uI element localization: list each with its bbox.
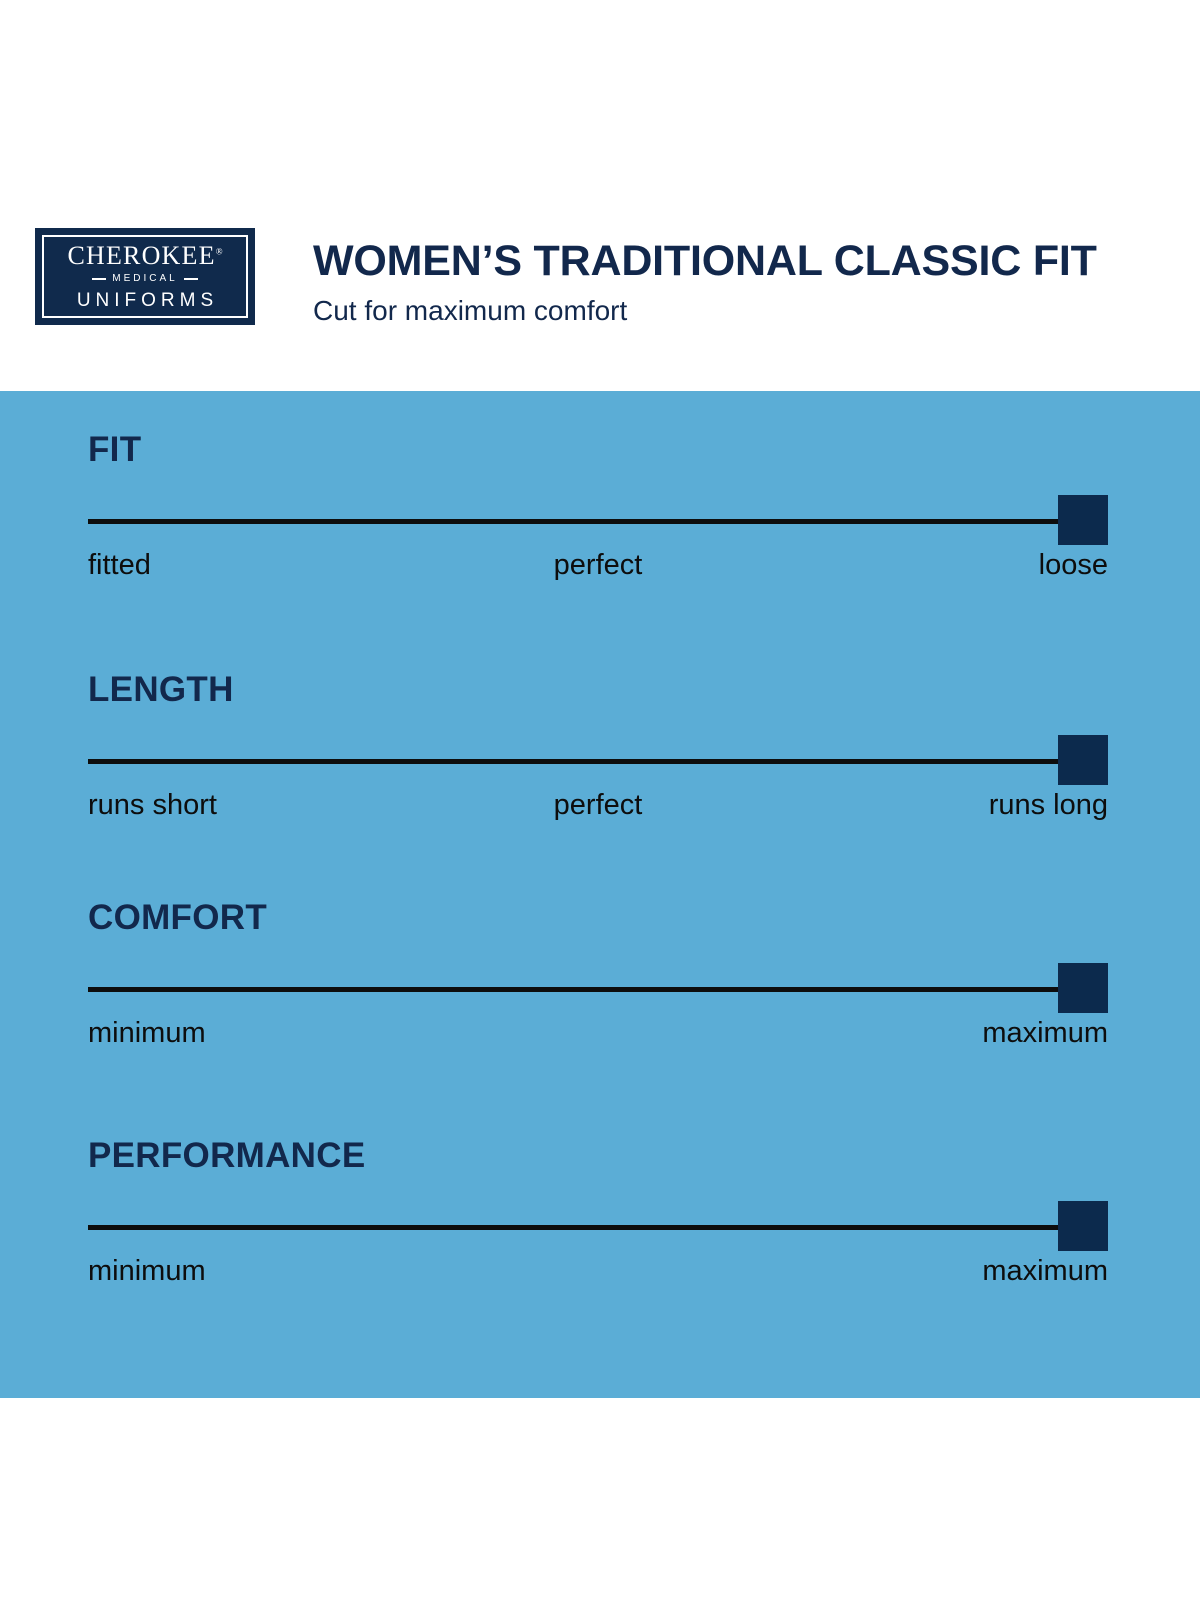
- logo-brand-name: CHEROKEE®: [67, 243, 222, 269]
- logo-medical-row: MEDICAL: [92, 274, 197, 284]
- scale-labels-comfort: minimum maximum: [88, 1019, 1108, 1059]
- scale-line-length: [88, 759, 1058, 764]
- scale-track-length[interactable]: [88, 735, 1108, 787]
- scale-label-length-left: runs short: [88, 791, 217, 820]
- scale-label-length-middle: perfect: [554, 791, 643, 820]
- scale-marker-length[interactable]: [1058, 735, 1108, 785]
- scale-label-fit-right: loose: [1039, 551, 1108, 580]
- cherokee-medical-uniforms-logo: CHEROKEE® MEDICAL UNIFORMS: [35, 228, 255, 325]
- logo-brand-text: CHEROKEE: [67, 241, 215, 270]
- scale-marker-performance[interactable]: [1058, 1201, 1108, 1251]
- scale-label-length-right: runs long: [989, 791, 1108, 820]
- fit-guide-page: CHEROKEE® MEDICAL UNIFORMS WOMEN’S TRADI…: [0, 0, 1200, 1600]
- scale-labels-performance: minimum maximum: [88, 1257, 1108, 1297]
- scale-label-fit-middle: perfect: [554, 551, 643, 580]
- scale-title-performance: PERFORMANCE: [88, 1138, 1108, 1173]
- registered-trademark-icon: ®: [216, 246, 223, 256]
- logo-medical-text: MEDICAL: [112, 274, 177, 284]
- scale-label-comfort-right: maximum: [982, 1019, 1108, 1048]
- scale-labels-fit: fitted perfect loose: [88, 551, 1108, 591]
- scale-marker-comfort[interactable]: [1058, 963, 1108, 1013]
- scale-row-fit: FIT fitted perfect loose: [88, 432, 1108, 591]
- page-title: WOMEN’S TRADITIONAL CLASSIC FIT: [313, 240, 1097, 283]
- logo-dash-left-icon: [92, 278, 106, 280]
- scale-track-comfort[interactable]: [88, 963, 1108, 1015]
- scale-label-performance-right: maximum: [982, 1257, 1108, 1286]
- scale-title-length: LENGTH: [88, 672, 1108, 707]
- scale-row-length: LENGTH runs short perfect runs long: [88, 672, 1108, 831]
- scale-title-fit: FIT: [88, 432, 1108, 467]
- scale-label-fit-left: fitted: [88, 551, 151, 580]
- scale-row-comfort: COMFORT minimum maximum: [88, 900, 1108, 1059]
- scale-track-fit[interactable]: [88, 495, 1108, 547]
- page-subtitle: Cut for maximum comfort: [313, 297, 627, 325]
- header-band: CHEROKEE® MEDICAL UNIFORMS WOMEN’S TRADI…: [0, 0, 1200, 391]
- logo-inner-border: CHEROKEE® MEDICAL UNIFORMS: [42, 235, 248, 318]
- scale-title-comfort: COMFORT: [88, 900, 1108, 935]
- scale-line-fit: [88, 519, 1058, 524]
- scale-row-performance: PERFORMANCE minimum maximum: [88, 1138, 1108, 1297]
- scale-line-comfort: [88, 987, 1058, 992]
- scale-label-performance-left: minimum: [88, 1257, 206, 1286]
- scale-track-performance[interactable]: [88, 1201, 1108, 1253]
- scale-line-performance: [88, 1225, 1058, 1230]
- scale-marker-fit[interactable]: [1058, 495, 1108, 545]
- scale-label-comfort-left: minimum: [88, 1019, 206, 1048]
- logo-uniforms-text: UNIFORMS: [72, 291, 218, 310]
- scale-labels-length: runs short perfect runs long: [88, 791, 1108, 831]
- logo-dash-right-icon: [184, 278, 198, 280]
